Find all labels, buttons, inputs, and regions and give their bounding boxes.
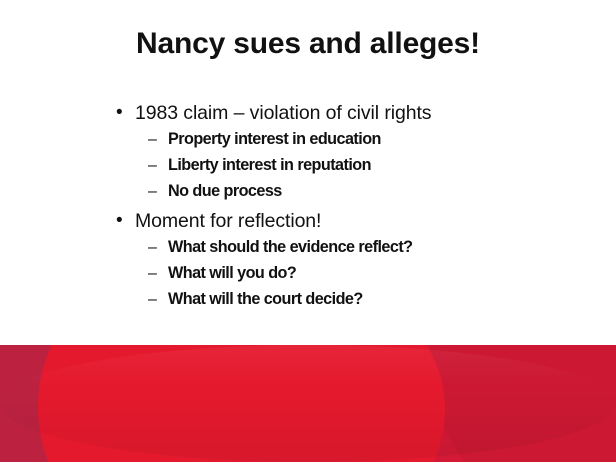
footer-decoration-band [0, 345, 616, 462]
bullet-text: Moment for reflection! [135, 209, 321, 233]
bullet-item: • 1983 claim – violation of civil rights [0, 101, 616, 128]
bullet-marker-dot: • [116, 101, 135, 125]
sub-bullet-item: – No due process [0, 180, 616, 206]
bullet-marker-dash: – [148, 180, 168, 203]
slide-title: Nancy sues and alleges! [0, 27, 616, 61]
bullet-marker-dot: • [116, 209, 135, 233]
bullet-marker-dash: – [148, 262, 168, 285]
slide-canvas: Nancy sues and alleges! • 1983 claim – v… [0, 0, 616, 462]
sub-bullet-text: No due process [168, 180, 282, 203]
bullet-marker-dash: – [148, 154, 168, 177]
footer-shade-overlay [0, 345, 616, 462]
sub-bullet-text: Property interest in education [168, 128, 381, 151]
slide-body-list: • 1983 claim – violation of civil rights… [0, 101, 616, 314]
sub-bullet-text: What will the court decide? [168, 288, 363, 311]
sub-bullet-text: What will you do? [168, 262, 296, 285]
sub-bullet-item: – What should the evidence reflect? [0, 236, 616, 262]
bullet-marker-dash: – [148, 128, 168, 151]
bullet-text: 1983 claim – violation of civil rights [135, 101, 431, 125]
bullet-item: • Moment for reflection! [0, 209, 616, 236]
sub-bullet-text: What should the evidence reflect? [168, 236, 413, 259]
sub-bullet-item: – Liberty interest in reputation [0, 154, 616, 180]
sub-bullet-item: – What will the court decide? [0, 288, 616, 314]
sub-bullet-item: – What will you do? [0, 262, 616, 288]
sub-bullet-item: – Property interest in education [0, 128, 616, 154]
bullet-marker-dash: – [148, 288, 168, 311]
bullet-marker-dash: – [148, 236, 168, 259]
sub-bullet-text: Liberty interest in reputation [168, 154, 371, 177]
